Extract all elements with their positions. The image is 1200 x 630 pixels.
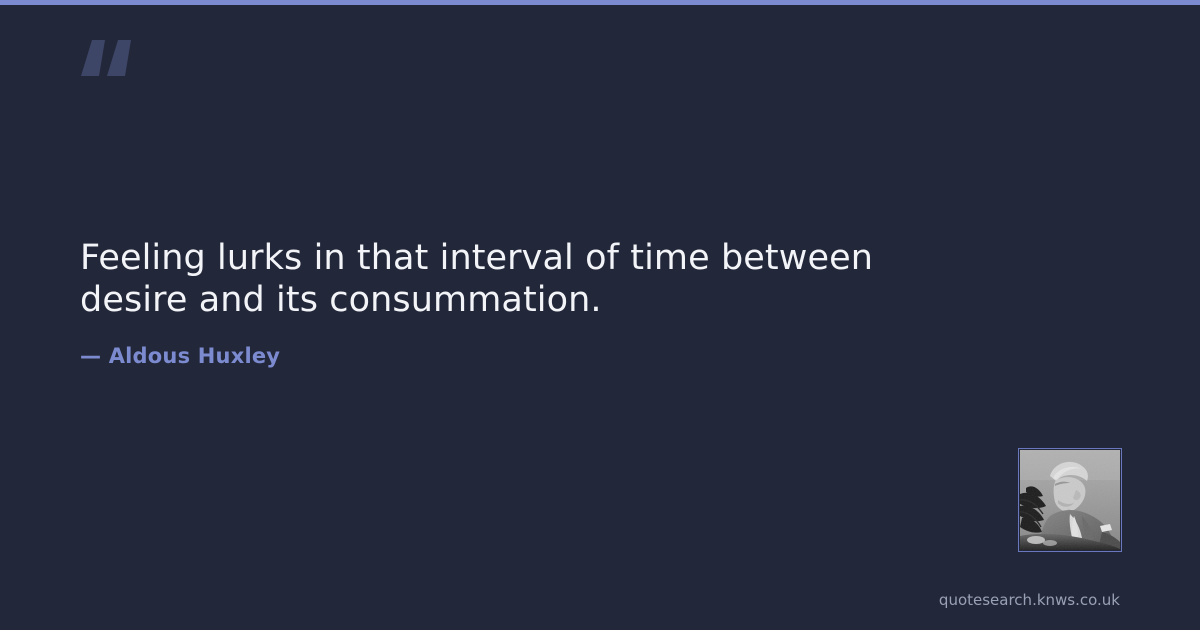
open-quote-icon [78,36,138,86]
quote-text: Feeling lurks in that interval of time b… [80,237,960,321]
author-portrait [1020,450,1120,550]
source-url: quotesearch.knws.co.uk [939,591,1120,609]
quote-card: Feeling lurks in that interval of time b… [0,0,1200,630]
top-accent-bar [0,0,1200,5]
quote-attribution: — Aldous Huxley [80,344,280,368]
